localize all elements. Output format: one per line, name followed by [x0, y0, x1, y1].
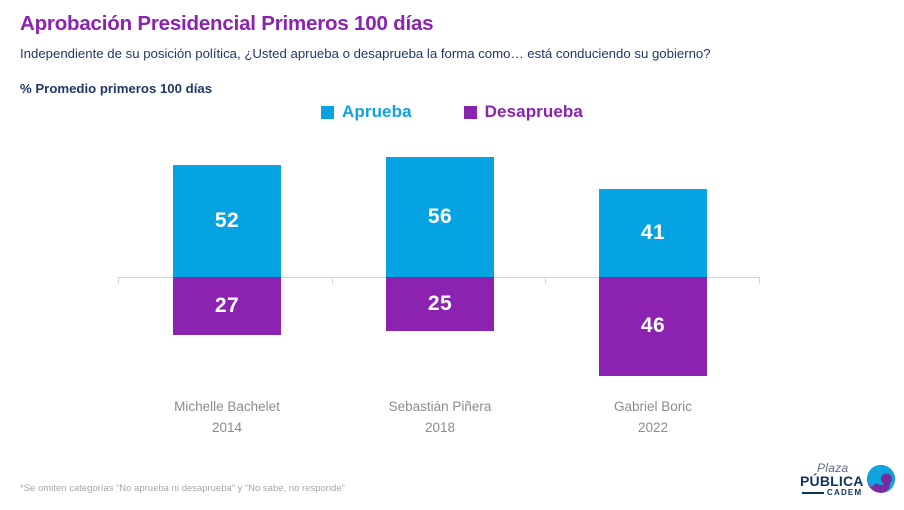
chart-legend: Aprueba Desaprueba: [0, 102, 904, 122]
bar-desaprueba-0[interactable]: 27: [173, 277, 281, 335]
category-label-0: Michelle Bachelet 2014: [117, 396, 337, 438]
legend-label-aprueba: Aprueba: [342, 102, 412, 122]
bar-value-label: 56: [428, 205, 452, 229]
zero-axis-line: [118, 277, 760, 278]
axis-tick: [332, 277, 333, 284]
category-year: 2018: [330, 417, 550, 438]
bar-group-gabriel-boric: 41 46: [599, 0, 707, 510]
category-label-2: Gabriel Boric 2022: [543, 396, 763, 438]
subtitle-metric: % Promedio primeros 100 días: [20, 80, 212, 97]
category-name: Gabriel Boric: [614, 399, 692, 414]
logo-cadem-text: CADEM: [827, 488, 862, 497]
bar-aprueba-0[interactable]: 52: [173, 165, 281, 277]
legend-item-desaprueba[interactable]: Desaprueba: [464, 102, 583, 122]
category-name: Michelle Bachelet: [174, 399, 280, 414]
logo-publica-text: PÚBLICA: [800, 473, 864, 489]
category-year: 2014: [117, 417, 337, 438]
bar-group-sebastian-pinera: 56 25: [386, 0, 494, 510]
bar-desaprueba-2[interactable]: 46: [599, 277, 707, 376]
bar-aprueba-1[interactable]: 56: [386, 157, 494, 277]
slide-canvas: Aprobación Presidencial Primeros 100 día…: [0, 0, 904, 510]
category-label-1: Sebastián Piñera 2018: [330, 396, 550, 438]
subtitle-question: Independiente de su posición política, ¿…: [20, 45, 780, 63]
plaza-publica-cadem-logo: Plaza PÚBLICA CADEM: [800, 460, 896, 500]
bar-value-label: 52: [215, 209, 239, 233]
bar-value-label: 27: [215, 294, 239, 318]
legend-item-aprueba[interactable]: Aprueba: [321, 102, 412, 122]
bar-value-label: 25: [428, 292, 452, 316]
bar-group-michelle-bachelet: 52 27: [173, 0, 281, 510]
axis-tick: [545, 277, 546, 284]
plaza-publica-swirl-icon: [866, 464, 896, 494]
square-marker-icon: [464, 106, 477, 119]
bar-desaprueba-1[interactable]: 25: [386, 277, 494, 331]
page-title: Aprobación Presidencial Primeros 100 día…: [20, 12, 433, 36]
bar-aprueba-2[interactable]: 41: [599, 189, 707, 277]
axis-tick: [118, 277, 119, 284]
legend-label-desaprueba: Desaprueba: [485, 102, 583, 122]
axis-tick: [759, 277, 760, 284]
category-name: Sebastián Piñera: [389, 399, 492, 414]
square-marker-icon: [321, 106, 334, 119]
category-year: 2022: [543, 417, 763, 438]
logo-wordmark: Plaza PÚBLICA CADEM: [800, 460, 866, 500]
chart-plot-area: 52 27 56 25 41 46 Michelle Ba: [0, 0, 904, 510]
footnote: *Se omiten categorías “No aprueba ni des…: [20, 483, 345, 494]
bar-value-label: 46: [641, 314, 665, 338]
logo-divider: [802, 492, 824, 494]
bar-value-label: 41: [641, 221, 665, 245]
